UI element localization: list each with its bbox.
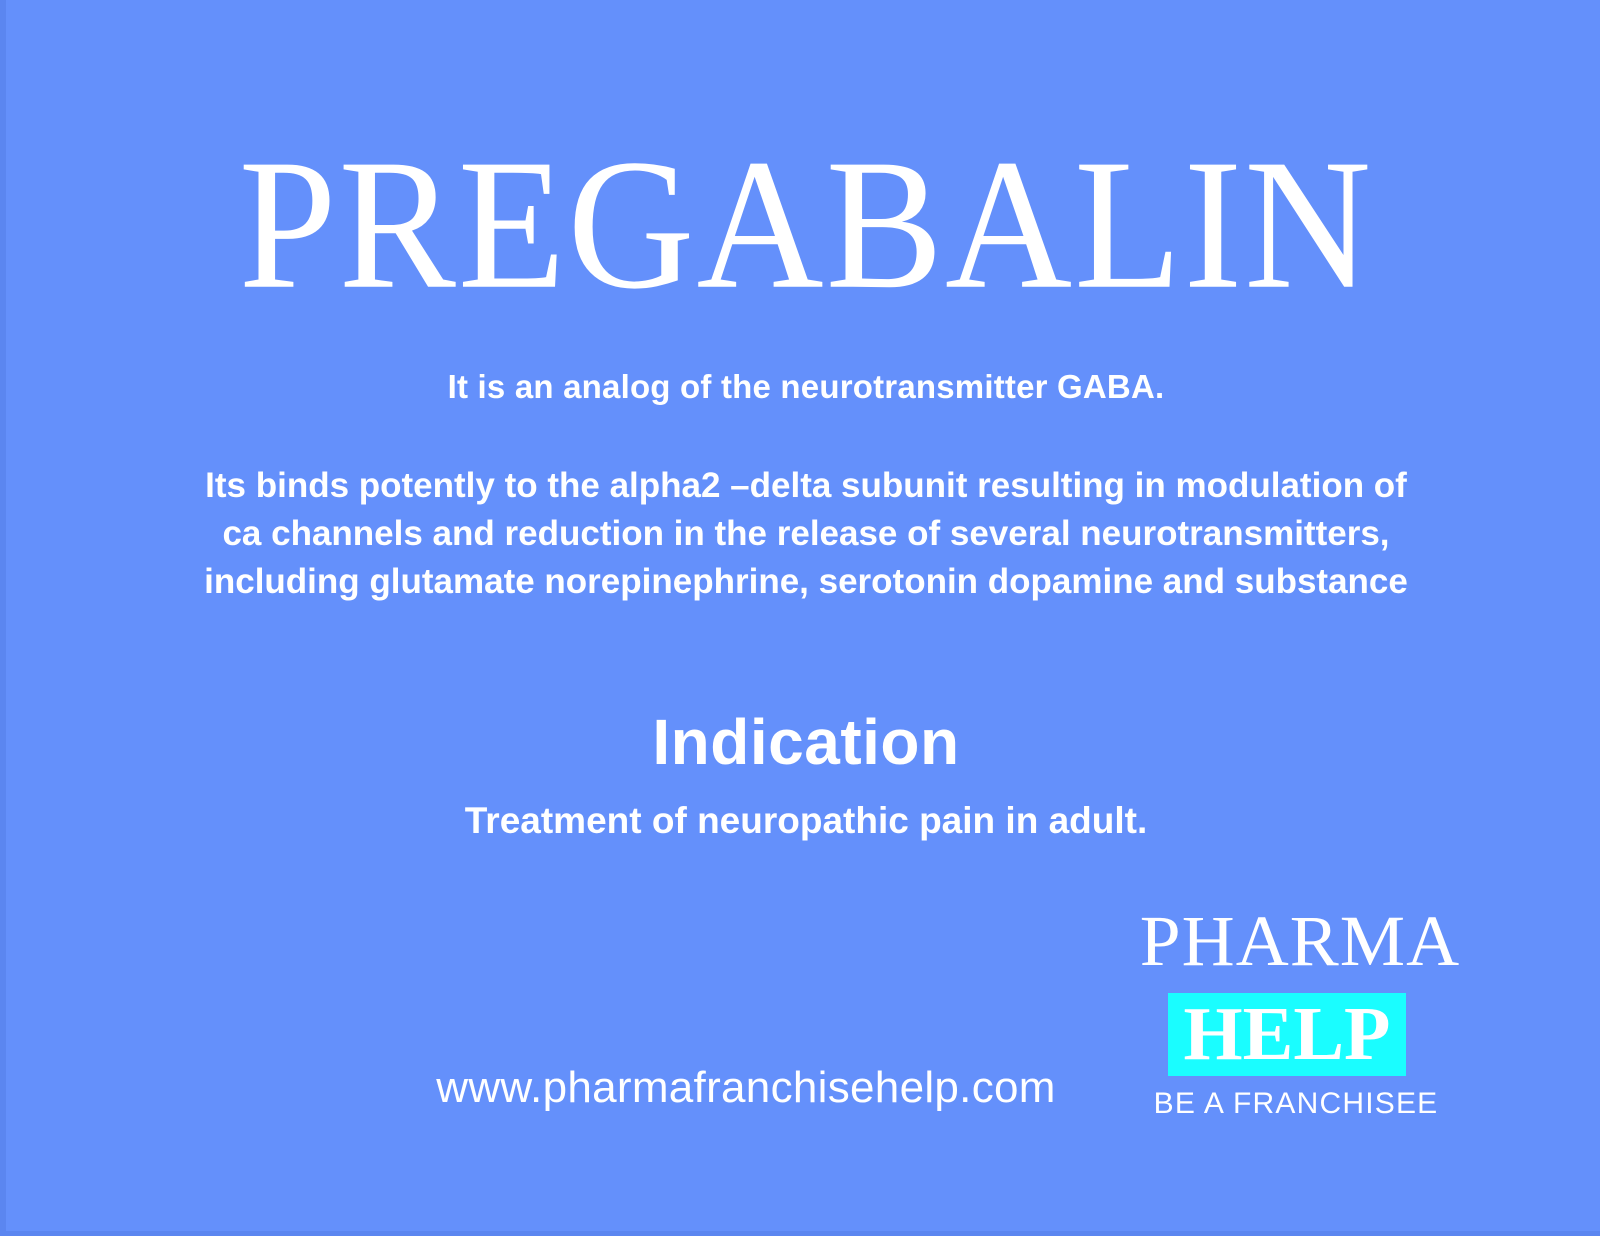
indication-heading: Indication [6, 705, 1600, 779]
paragraph-line-2: ca channels and reduction in the release… [66, 510, 1546, 558]
page-title: PREGABALIN [6, 132, 1600, 319]
paragraph-line-3: including glutamate norepinephrine, sero… [66, 558, 1546, 606]
slide-canvas: PREGABALIN It is an analog of the neurot… [0, 0, 1600, 1236]
pharmahelp-logo: PHARMA HELP BE A FRANCHISEE [1096, 905, 1496, 1125]
logo-tagline: BE A FRANCHISEE [1096, 1087, 1496, 1121]
lead-sentence: It is an analog of the neurotransmitter … [6, 368, 1600, 406]
logo-secondary-label: HELP [1168, 991, 1406, 1074]
mechanism-paragraph: Its binds potently to the alpha2 –delta … [66, 462, 1546, 606]
indication-text: Treatment of neuropathic pain in adult. [6, 800, 1600, 842]
logo-primary-text: PHARMA [1096, 905, 1504, 977]
logo-accent-box: HELP [1168, 993, 1406, 1076]
logo-primary-label: PHARMA [1140, 905, 1460, 977]
paragraph-line-1: Its binds potently to the alpha2 –delta … [66, 462, 1546, 510]
